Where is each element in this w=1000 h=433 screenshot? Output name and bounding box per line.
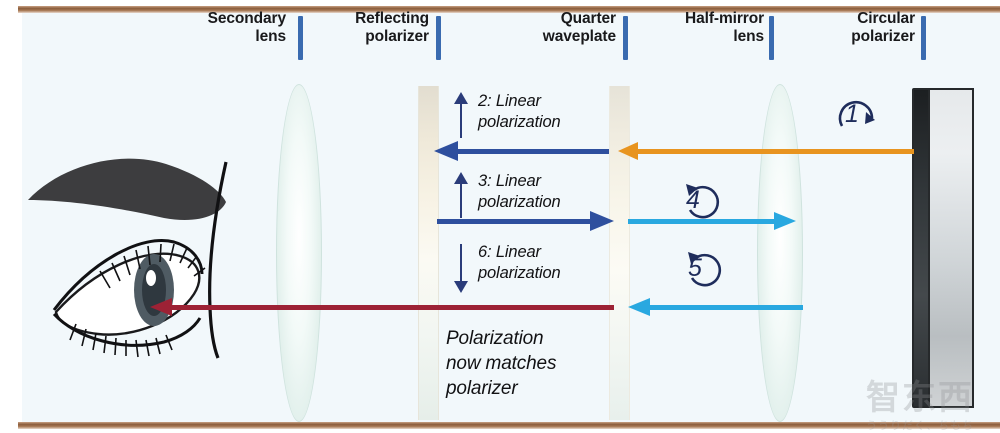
label-line-1: Reflecting: [305, 10, 429, 28]
beam-darkblue-rightward: [437, 219, 592, 224]
eye-highlight: [146, 270, 156, 286]
polarization-indicator-step3-arrowhead: [454, 172, 468, 184]
column-label-quarter-waveplate: Quarter waveplate: [492, 10, 616, 47]
column-label-half-mirror-lens: Half-mirror lens: [646, 10, 764, 47]
polarization-indicator-step2-shaft: [460, 100, 462, 138]
eye-illustration: [14, 138, 244, 363]
polarization-indicator-step6-arrowhead: [454, 281, 468, 293]
figure-canvas: Secondary lens Reflecting polarizer Quar…: [0, 0, 1000, 433]
polarization-indicator-step3-shaft: [460, 180, 462, 218]
annotation-step3: 3: Linear polarization: [478, 171, 608, 213]
circular-polarizer-panel: [928, 88, 974, 408]
annotation-step6-line1: 6: Linear: [478, 242, 608, 263]
column-label-circular-polarizer: Circular polarizer: [793, 10, 915, 47]
annotation-step3-line2: polarization: [478, 192, 608, 213]
divider-tick-half-mirror-lens: [769, 16, 774, 60]
label-line-2: waveplate: [492, 28, 616, 46]
eyebrow: [28, 159, 226, 220]
half-mirror-lens-element: [757, 84, 803, 422]
clockwise-arrowhead: [865, 112, 875, 124]
bottom-rule: [18, 422, 1000, 429]
annotation-conclusion: Polarization now matches polarizer: [446, 326, 621, 401]
annotation-conclusion-line2: now matches: [446, 351, 621, 376]
annotation-conclusion-line1: Polarization: [446, 326, 621, 351]
annotation-step6: 6: Linear polarization: [478, 242, 608, 284]
beam-darkred-leftward-arrowhead: [150, 298, 172, 316]
polarization-indicator-step2-arrowhead: [454, 92, 468, 104]
secondary-lens-element: [276, 84, 322, 422]
column-label-secondary-lens: Secondary lens: [156, 10, 286, 47]
divider-tick-reflecting-polarizer: [436, 16, 441, 60]
label-line-2: lens: [156, 28, 286, 46]
label-line-1: Circular: [793, 10, 915, 28]
label-line-1: Secondary: [156, 10, 286, 28]
beam-darkred-leftward: [170, 305, 614, 310]
reflecting-polarizer-element: [418, 86, 439, 420]
label-line-1: Half-mirror: [646, 10, 764, 28]
label-line-2: polarizer: [305, 28, 429, 46]
beam-darkblue-leftward: [456, 149, 609, 154]
annotation-step2-line2: polarization: [478, 112, 608, 133]
annotation-conclusion-line3: polarizer: [446, 376, 621, 401]
divider-tick-circular-polarizer: [921, 16, 926, 60]
divider-tick-quarter-waveplate: [623, 16, 628, 60]
beam-darkblue-rightward-arrowhead: [590, 211, 614, 231]
step-marker-1-label: 1: [845, 100, 859, 129]
step-marker-5-label: 5: [688, 254, 702, 283]
annotation-step3-line1: 3: Linear: [478, 171, 608, 192]
label-line-2: polarizer: [793, 28, 915, 46]
label-line-2: lens: [646, 28, 764, 46]
beam-orange-leftward: [636, 149, 914, 154]
step-marker-4-label: 4: [686, 186, 700, 215]
annotation-step2-line1: 2: Linear: [478, 91, 608, 112]
beam-orange-leftward-arrowhead: [618, 142, 638, 160]
beam-cyan-leftward-arrowhead: [628, 298, 650, 316]
annotation-step6-line2: polarization: [478, 263, 608, 284]
beam-darkblue-leftward-arrowhead: [434, 141, 458, 161]
beam-cyan-leftward: [648, 305, 803, 310]
beam-cyan-rightward-arrowhead: [774, 212, 796, 230]
divider-tick-secondary-lens: [298, 16, 303, 60]
column-label-reflecting-polarizer: Reflecting polarizer: [305, 10, 429, 47]
label-line-1: Quarter: [492, 10, 616, 28]
annotation-step2: 2: Linear polarization: [478, 91, 608, 133]
polarization-indicator-step6-shaft: [460, 244, 462, 282]
